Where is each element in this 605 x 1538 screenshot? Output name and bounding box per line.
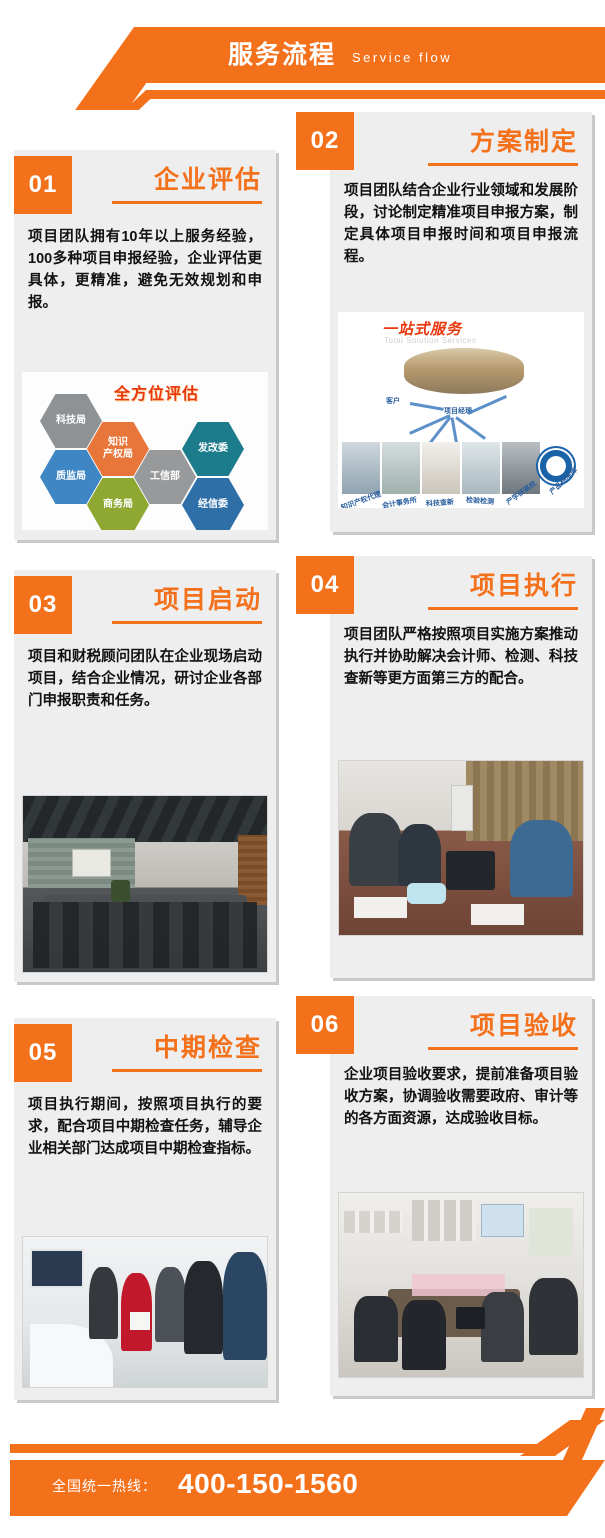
- card-title-06: 项目验收: [330, 996, 592, 1042]
- step-badge-04: 04: [296, 556, 354, 614]
- step-badge-01: 01: [14, 156, 72, 214]
- hexagon-label: 发改委: [198, 443, 228, 455]
- infographic-caption: 全方位评估: [114, 380, 199, 404]
- hexagon-label: 工信部: [150, 471, 180, 483]
- card-body-06: 企业项目验收要求，提前准备项目验收方案，协调验收需要政府、审计等的各方面资源，达…: [330, 1050, 592, 1140]
- hexagon-jingxin-wei: 经信委: [182, 478, 244, 530]
- page-header: 服务流程 Service flow: [0, 0, 605, 110]
- card-body-01: 项目团队拥有10年以上服务经验，100多种项目申报经验，企业评估更具体，更精准，…: [14, 204, 276, 324]
- diagram-arrow: [455, 416, 486, 440]
- card-title-02: 方案制定: [330, 112, 592, 158]
- hexagon-label: 经信委: [198, 499, 228, 511]
- card-body-04: 项目团队严格按照项目实施方案推动执行并协助解决会计师、检测、科技查新等更方面第三…: [330, 610, 592, 700]
- card-body-02: 项目团队结合企业行业领域和发展阶段，讨论制定精准项目申报方案，制定具体项目申报时…: [330, 166, 592, 278]
- step-badge-06: 06: [296, 996, 354, 1054]
- step-badge-02: 02: [296, 112, 354, 170]
- hotline-number[interactable]: 400-150-1560: [178, 1468, 358, 1500]
- hexagon-fagai-wei: 发改委: [182, 422, 244, 476]
- card-photo-03: [22, 795, 268, 973]
- page-subtitle: Service flow: [352, 44, 452, 72]
- step-card-02: 方案制定 项目团队结合企业行业领域和发展阶段，讨论制定精准项目申报方案，制定具体…: [330, 112, 592, 532]
- hexagon-label: 知识 产权局: [103, 437, 133, 461]
- card-photo-04: [338, 760, 584, 936]
- diagram-caption-en: Total Solution Services: [384, 336, 476, 345]
- diagram-label-tech-search: 科技查新: [426, 497, 455, 508]
- diagram-meeting-photo: [404, 348, 524, 394]
- diagram-tile-accounting: [382, 442, 420, 494]
- diagram-tile-tech-search: [422, 442, 460, 494]
- hexagon-label: 商务局: [103, 499, 133, 511]
- card-body-03: 项目和财税顾问团队在企业现场启动项目，结合企业情况，研讨企业各部门申报职责和任务…: [14, 624, 276, 722]
- step-card-04: 项目执行 项目团队严格按照项目实施方案推动执行并协助解决会计师、检测、科技查新等…: [330, 556, 592, 978]
- hexagon-label: 科技局: [56, 415, 86, 427]
- page-title: 服务流程: [228, 34, 336, 76]
- step-badge-05: 05: [14, 1024, 72, 1082]
- page-footer: 全国统一热线： 400-150-1560: [0, 1408, 605, 1538]
- service-flow-poster: 服务流程 Service flow 企业评估 项目团队拥有10年以上服务经验，1…: [0, 0, 605, 1538]
- hexagon-infographic: 全方位评估 科技局 知识 产权局 质监局 商务局 工信部 发改委 经信委: [22, 372, 268, 530]
- diagram-label-inspection: 检验检测: [466, 495, 495, 507]
- hexagon-label: 质监局: [56, 471, 86, 483]
- card-photo-06: [338, 1192, 584, 1378]
- card-photo-05: [22, 1236, 268, 1388]
- diagram-tile-inspection: [462, 442, 500, 494]
- diagram-arrow: [410, 402, 444, 411]
- step-badge-03: 03: [14, 576, 72, 634]
- diagram-node-customer: 客户: [386, 396, 400, 406]
- diagram-label-accounting: 会计事务所: [381, 495, 417, 508]
- card-body-05: 项目执行期间，按照项目执行的要求，配合项目中期检查任务，辅导企业相关部门达成项目…: [14, 1072, 276, 1170]
- diagram-tile-ip-agency: [342, 442, 380, 494]
- hotline-label: 全国统一热线：: [52, 1476, 157, 1496]
- one-stop-service-diagram: 一站式服务 Total Solution Services 客户 项目经理 知识…: [338, 312, 584, 508]
- step-card-06: 项目验收 企业项目验收要求，提前准备项目验收方案，协调验收需要政府、审计等的各方…: [330, 996, 592, 1396]
- diagram-arrow: [467, 395, 507, 415]
- header-thin-band: [146, 90, 605, 99]
- card-title-04: 项目执行: [330, 556, 592, 602]
- footer-thin-band: [10, 1444, 570, 1453]
